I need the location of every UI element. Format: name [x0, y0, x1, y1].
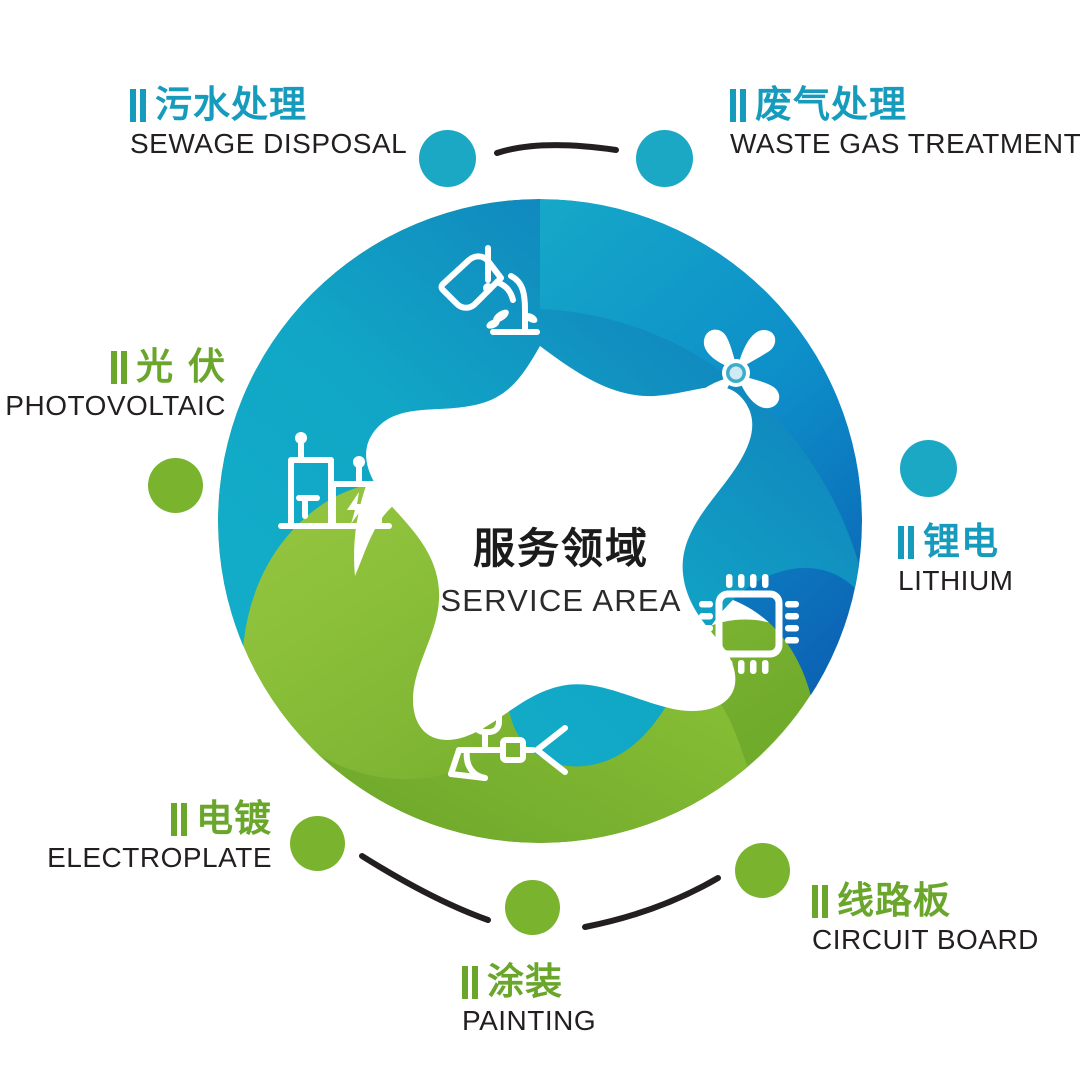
label-sewage-en: SEWAGE DISPOSAL: [130, 128, 407, 160]
label-electroplate-cn: 电镀: [196, 800, 272, 839]
label-painting-en: PAINTING: [462, 1005, 596, 1037]
label-sewage-cn: 污水处理: [155, 86, 307, 125]
accent-bars-icon: [812, 885, 828, 918]
label-waste-gas[interactable]: 废气处理 WASTE GAS TREATMENT: [730, 86, 1080, 160]
accent-bars-icon: [462, 966, 478, 999]
accent-bars-icon: [898, 526, 914, 559]
label-lithium-en: LITHIUM: [898, 565, 1014, 597]
dot-lithium: [900, 440, 957, 497]
label-waste-gas-cn: 废气处理: [755, 86, 907, 125]
label-photovoltaic-cn: 光 伏: [136, 348, 226, 387]
dot-photovoltaic: [148, 458, 203, 513]
label-photovoltaic-en: PHOTOVOLTAIC: [0, 390, 226, 422]
accent-bars-icon: [111, 351, 127, 384]
accent-bars-icon: [171, 803, 187, 836]
label-photovoltaic[interactable]: 光 伏 PHOTOVOLTAIC: [0, 348, 226, 422]
label-electroplate[interactable]: 电镀 ELECTROPLATE: [20, 800, 272, 874]
infographic-canvas: 服务领域 SERVICE AREA 污水处理 SEWAGE DISPOSAL 废…: [0, 0, 1080, 1078]
dot-painting: [505, 880, 560, 935]
label-waste-gas-en: WASTE GAS TREATMENT: [730, 128, 1080, 160]
label-circuit-board[interactable]: 线路板 CIRCUIT BOARD: [812, 882, 1039, 956]
label-circuit-board-cn: 线路板: [837, 882, 951, 921]
dot-sewage: [419, 130, 476, 187]
ring-shapes: [215, 196, 865, 846]
accent-bars-icon: [730, 89, 746, 122]
label-sewage[interactable]: 污水处理 SEWAGE DISPOSAL: [130, 86, 407, 160]
accent-bars-icon: [130, 89, 146, 122]
label-lithium-cn: 锂电: [923, 523, 999, 562]
dot-circuit-board: [735, 843, 790, 898]
label-electroplate-en: ELECTROPLATE: [20, 842, 272, 874]
label-painting-cn: 涂装: [487, 963, 563, 1002]
dot-waste-gas: [636, 130, 693, 187]
service-area-ring: [215, 196, 865, 846]
label-lithium[interactable]: 锂电 LITHIUM: [898, 523, 1014, 597]
label-painting[interactable]: 涂装 PAINTING: [462, 963, 596, 1037]
label-circuit-board-en: CIRCUIT BOARD: [812, 924, 1039, 956]
